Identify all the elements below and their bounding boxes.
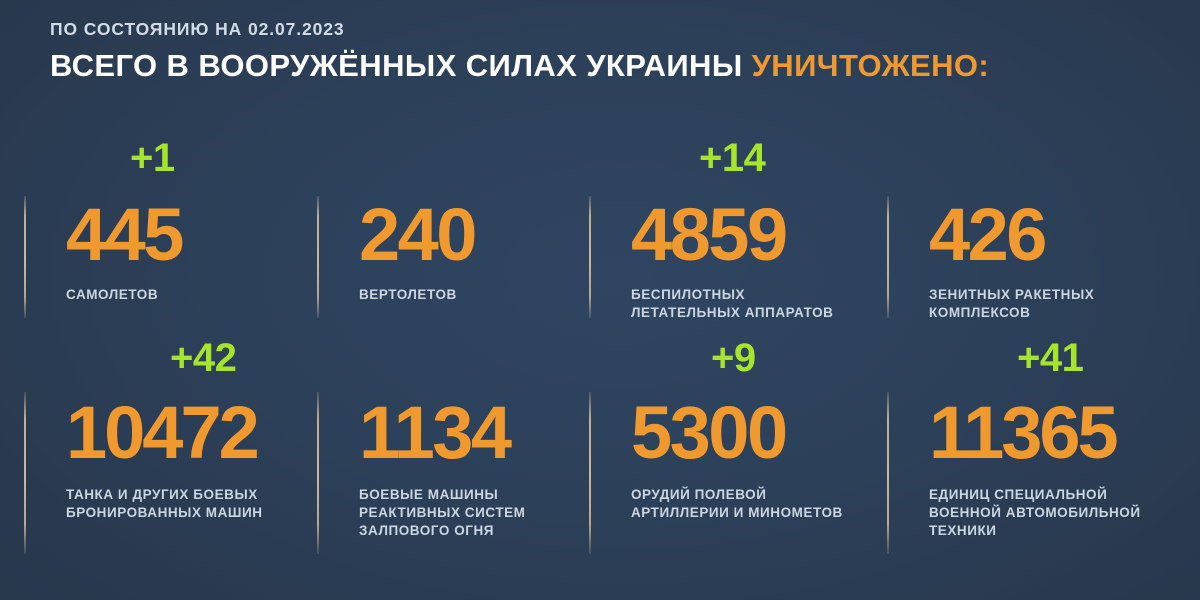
cell-divider xyxy=(589,392,591,554)
delta-badge: +1 xyxy=(130,138,175,178)
page-title: ВСЕГО В ВООРУЖЁННЫХ СИЛАХ УКРАИНЫ УНИЧТО… xyxy=(50,49,1180,83)
stat-value: 240 xyxy=(359,198,475,272)
stat-cell: 426 ЗЕНИТНЫХ РАКЕТНЫХ КОМПЛЕКСОВ xyxy=(887,120,1187,350)
stat-value: 10472 xyxy=(66,396,257,470)
headline-accent-text: УНИЧТОЖЕНО: xyxy=(752,48,990,83)
stat-value: 1134 xyxy=(359,396,510,470)
stat-cell: +41 11365 ЕДИНИЦ СПЕЦИАЛЬНОЙ ВОЕННОЙ АВТ… xyxy=(887,338,1187,568)
cell-divider xyxy=(589,196,591,318)
stat-value: 11365 xyxy=(929,396,1116,470)
cell-divider xyxy=(317,392,319,554)
stats-grid: +1 445 САМОЛЕТОВ 240 ВЕРТОЛЕТОВ +14 4859… xyxy=(0,120,1200,580)
stat-caption: ЗЕНИТНЫХ РАКЕТНЫХ КОМПЛЕКСОВ xyxy=(929,286,1094,322)
stat-caption: БЕСПИЛОТНЫХ ЛЕТАТЕЛЬНЫХ АППАРАТОВ xyxy=(631,286,833,322)
cell-divider xyxy=(887,392,889,554)
stat-caption: ВЕРТОЛЕТОВ xyxy=(359,286,457,304)
cell-divider xyxy=(24,392,26,554)
as-of-date-label: ПО СОСТОЯНИЮ НА 02.07.2023 xyxy=(50,20,1180,39)
delta-badge: +42 xyxy=(170,338,236,378)
stat-caption: БОЕВЫЕ МАШИНЫ РЕАКТИВНЫХ СИСТЕМ ЗАЛПОВОГ… xyxy=(359,486,525,539)
cell-divider xyxy=(317,196,319,318)
cell-divider xyxy=(24,196,26,318)
stat-cell: 240 ВЕРТОЛЕТОВ xyxy=(317,120,587,350)
stat-caption: ЕДИНИЦ СПЕЦИАЛЬНОЙ ВОЕННОЙ АВТОМОБИЛЬНОЙ… xyxy=(929,486,1141,539)
poster-header: ПО СОСТОЯНИЮ НА 02.07.2023 ВСЕГО В ВООРУ… xyxy=(50,20,1180,83)
stat-caption: ОРУДИЙ ПОЛЕВОЙ АРТИЛЛЕРИИ И МИНОМЕТОВ xyxy=(631,486,843,522)
cell-divider xyxy=(887,196,889,318)
stat-value: 445 xyxy=(66,198,182,272)
stats-row: +1 445 САМОЛЕТОВ 240 ВЕРТОЛЕТОВ +14 4859… xyxy=(0,120,1200,350)
headline-main-text: ВСЕГО В ВООРУЖЁННЫХ СИЛАХ УКРАИНЫ xyxy=(50,48,743,83)
stat-cell: +14 4859 БЕСПИЛОТНЫХ ЛЕТАТЕЛЬНЫХ АППАРАТ… xyxy=(589,120,885,350)
stat-value: 426 xyxy=(929,198,1045,272)
delta-badge: +14 xyxy=(699,138,765,178)
delta-badge: +41 xyxy=(1017,338,1083,378)
stat-cell: +1 445 САМОЛЕТОВ xyxy=(24,120,314,350)
stats-row: +42 10472 ТАНКА И ДРУГИХ БОЕВЫХ БРОНИРОВ… xyxy=(0,338,1200,568)
infographic-poster: ПО СОСТОЯНИЮ НА 02.07.2023 ВСЕГО В ВООРУ… xyxy=(0,0,1200,600)
stat-cell: +42 10472 ТАНКА И ДРУГИХ БОЕВЫХ БРОНИРОВ… xyxy=(24,338,314,568)
stat-value: 4859 xyxy=(631,198,786,272)
stat-caption: САМОЛЕТОВ xyxy=(66,286,158,304)
stat-cell: +9 5300 ОРУДИЙ ПОЛЕВОЙ АРТИЛЛЕРИИ И МИНО… xyxy=(589,338,885,568)
stat-value: 5300 xyxy=(631,396,786,470)
stat-caption: ТАНКА И ДРУГИХ БОЕВЫХ БРОНИРОВАННЫХ МАШИ… xyxy=(66,486,263,522)
delta-badge: +9 xyxy=(711,338,756,378)
stat-cell: 1134 БОЕВЫЕ МАШИНЫ РЕАКТИВНЫХ СИСТЕМ ЗАЛ… xyxy=(317,338,587,568)
